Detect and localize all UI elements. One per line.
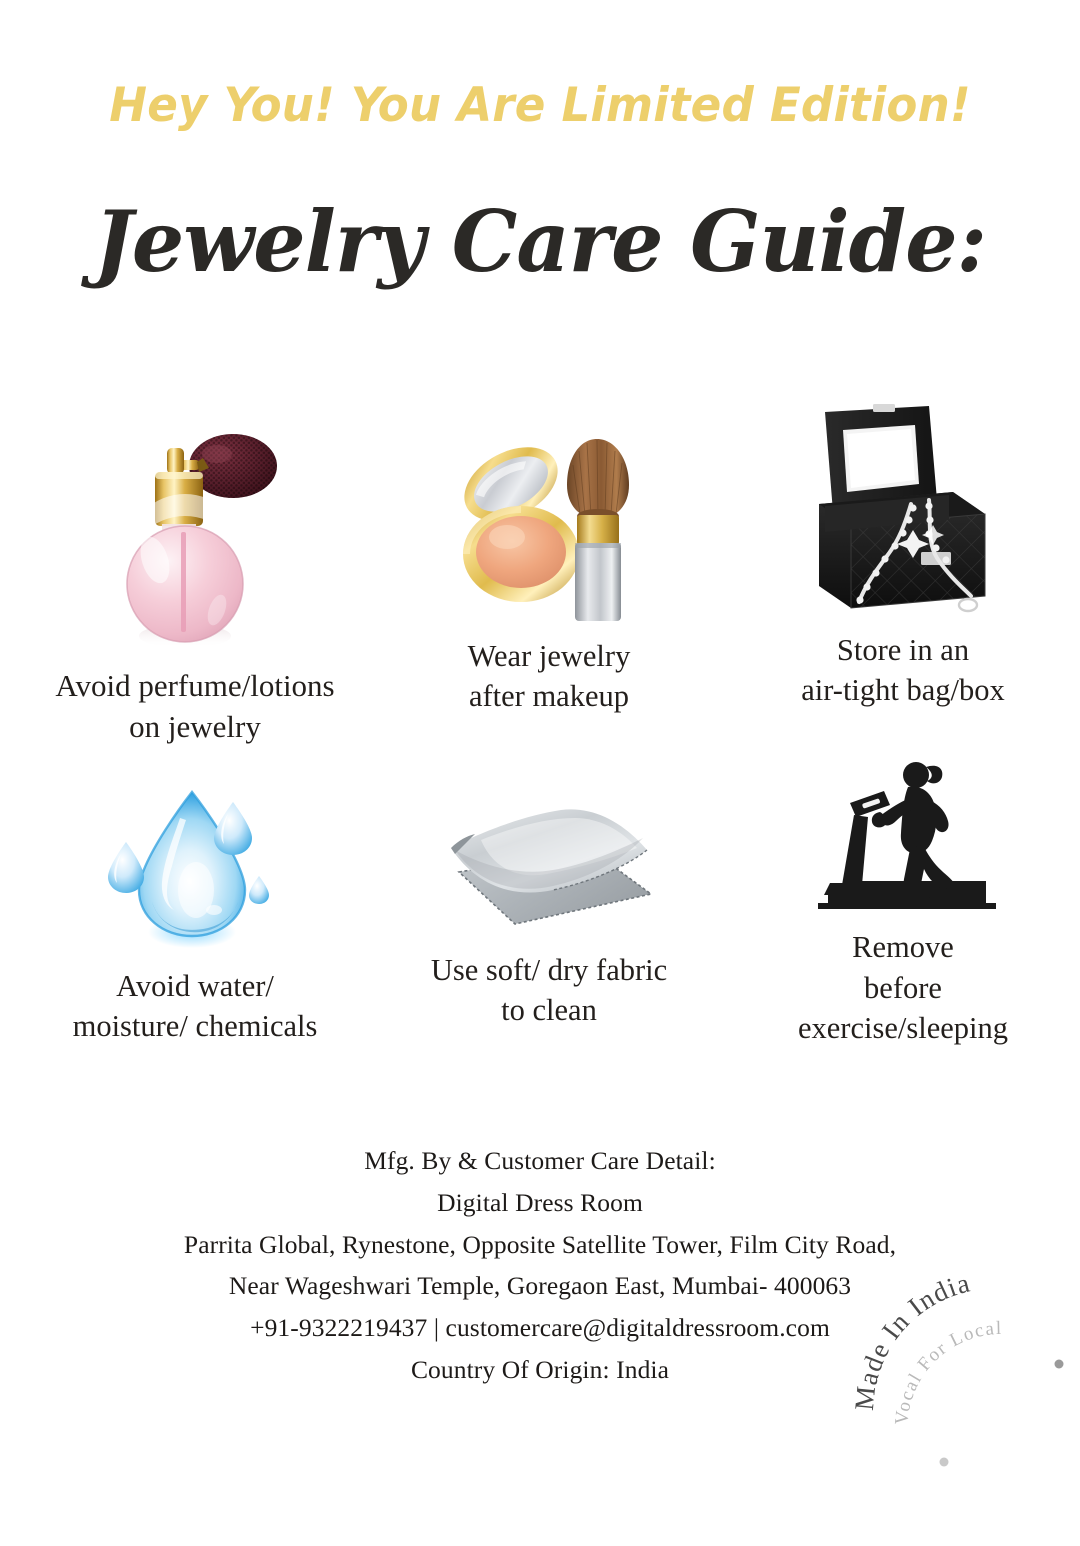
tip-caption: Avoid perfume/lotions on jewelry [55,654,334,748]
care-tips-row-1: Avoid perfume/lotions on jewelry [0,378,1080,748]
seal-dot-left [940,1458,949,1467]
footer-line-address-2: Near Wageshwari Temple, Goregaon East, M… [0,1265,1080,1307]
kicker-heading: Hey You! You Are Limited Edition! [22,78,1059,133]
microfiber-cloth-icon [441,798,657,938]
tip-caption: Avoid water/ moisture/ chemicals [73,954,318,1049]
tip-remove-before-exercise: Remove before exercise/sleeping [726,748,1080,1048]
footer-line-origin: Country Of Origin: India [0,1349,1080,1391]
tip-store-airtight: Store in an air-tight bag/box [726,378,1080,748]
makeup-compact-brush-icon [449,429,649,624]
care-guide-page: Hey You! You Are Limited Edition! Jewelr… [0,0,1080,1440]
footer-line-contact: +91-9322219437 | customercare@digitaldre… [0,1307,1080,1349]
tip-art-container [372,748,726,938]
tip-art-container [726,378,1080,618]
footer-line-company: Digital Dress Room [0,1182,1080,1224]
care-tips-row-2: Avoid water/ moisture/ chemicals [0,748,1080,1048]
tip-caption: Store in an air-tight bag/box [801,618,1005,749]
tip-caption: Use soft/ dry fabric to clean [431,938,667,1049]
page-title: Jewelry Care Guide: [11,192,1069,291]
tip-caption: Wear jewelry after makeup [468,624,631,749]
jewelry-box-icon [803,400,1003,618]
footer-contact-block: Mfg. By & Customer Care Detail: Digital … [0,1140,1080,1391]
tip-use-soft-fabric: Use soft/ dry fabric to clean [372,748,726,1048]
footer-line-mfg: Mfg. By & Customer Care Detail: [0,1140,1080,1182]
water-droplet-icon [102,784,288,954]
tip-wear-after-makeup: Wear jewelry after makeup [372,378,726,748]
care-tips-grid: Avoid perfume/lotions on jewelry [0,378,1080,1048]
tip-art-container [372,378,726,624]
treadmill-runner-icon [810,755,996,915]
footer-line-address-1: Parrita Global, Rynestone, Opposite Sate… [0,1224,1080,1266]
tip-avoid-perfume: Avoid perfume/lotions on jewelry [18,378,372,748]
tip-avoid-water: Avoid water/ moisture/ chemicals [18,748,372,1048]
perfume-bottle-icon [105,424,285,654]
tip-art-container [18,748,372,954]
tip-caption: Remove before exercise/sleeping [798,915,1008,1048]
tip-art-container [726,748,1080,915]
tip-art-container [18,378,372,654]
